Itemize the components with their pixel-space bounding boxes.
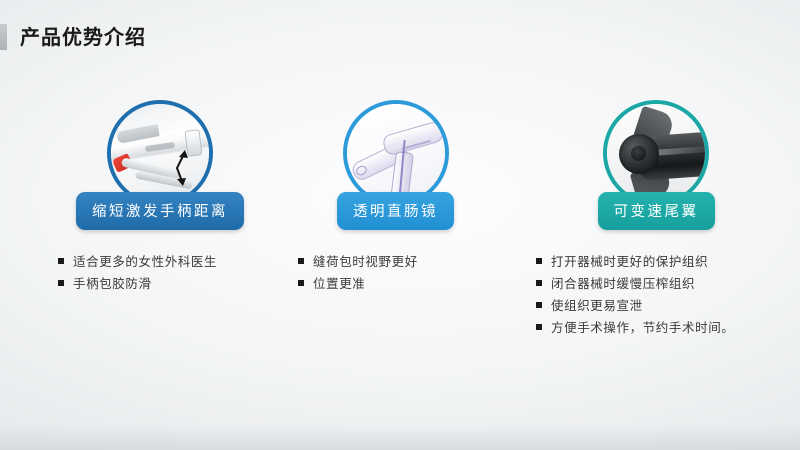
list-item: 方便手术操作，节约手术时间。	[536, 318, 792, 337]
list-item: 适合更多的女性外科医生	[58, 252, 280, 271]
circle-frame-1	[107, 100, 213, 206]
bullet-text: 位置更准	[313, 274, 365, 293]
feature-column-3: 可变速尾翼 打开器械时更好的保护组织 闭合器械时缓慢压榨组织 使组织更易宣泄 方…	[520, 100, 792, 353]
list-item: 使组织更易宣泄	[536, 296, 792, 315]
bullet-text: 缝荷包时视野更好	[313, 252, 418, 271]
bullet-text: 手柄包胶防滑	[73, 274, 152, 293]
circle-frame-2	[343, 100, 449, 206]
feature-image-wrap-3	[603, 100, 709, 206]
bullet-text: 使组织更易宣泄	[551, 296, 643, 315]
list-item: 手柄包胶防滑	[58, 274, 280, 293]
page-title: 产品优势介绍	[0, 22, 146, 52]
bullet-square-icon	[536, 258, 542, 264]
feature-bullets-3: 打开器械时更好的保护组织 闭合器械时缓慢压榨组织 使组织更易宣泄 方便手术操作，…	[536, 252, 792, 337]
bullet-text: 适合更多的女性外科医生	[73, 252, 217, 271]
feature-label-3[interactable]: 可变速尾翼	[598, 192, 715, 230]
bullet-square-icon	[58, 258, 64, 264]
bullet-text: 方便手术操作，节约手术时间。	[551, 318, 734, 337]
feature-bullets-2: 缝荷包时视野更好 位置更准	[298, 252, 503, 293]
bullet-text: 打开器械时更好的保护组织	[551, 252, 708, 271]
bullet-square-icon	[536, 324, 542, 330]
transparent-rectoscope-photo	[347, 104, 445, 202]
bullet-square-icon	[536, 280, 542, 286]
list-item: 缝荷包时视野更好	[298, 252, 503, 271]
list-item: 位置更准	[298, 274, 503, 293]
feature-image-wrap-2	[343, 100, 449, 206]
double-arrow-icon	[165, 148, 195, 188]
bullet-square-icon	[298, 258, 304, 264]
stapler-handle-photo	[111, 104, 209, 202]
variable-speed-tail-wing-photo	[607, 104, 705, 202]
bullet-square-icon	[58, 280, 64, 286]
feature-bullets-1: 适合更多的女性外科医生 手柄包胶防滑	[58, 252, 280, 293]
feature-label-1[interactable]: 缩短激发手柄距离	[76, 192, 244, 230]
page-title-text: 产品优势介绍	[20, 24, 146, 50]
feature-column-1: 缩短激发手柄距离 适合更多的女性外科医生 手柄包胶防滑	[40, 100, 280, 309]
bullet-square-icon	[298, 280, 304, 286]
bullet-square-icon	[536, 302, 542, 308]
feature-column-2: 透明直肠镜 缝荷包时视野更好 位置更准	[288, 100, 503, 309]
title-accent-bar	[0, 24, 7, 50]
feature-label-2[interactable]: 透明直肠镜	[337, 192, 454, 230]
bullet-text: 闭合器械时缓慢压榨组织	[551, 274, 695, 293]
list-item: 闭合器械时缓慢压榨组织	[536, 274, 792, 293]
list-item: 打开器械时更好的保护组织	[536, 252, 792, 271]
slide-canvas: 产品优势介绍	[0, 0, 800, 450]
circle-frame-3	[603, 100, 709, 206]
feature-image-wrap-1	[107, 100, 213, 206]
